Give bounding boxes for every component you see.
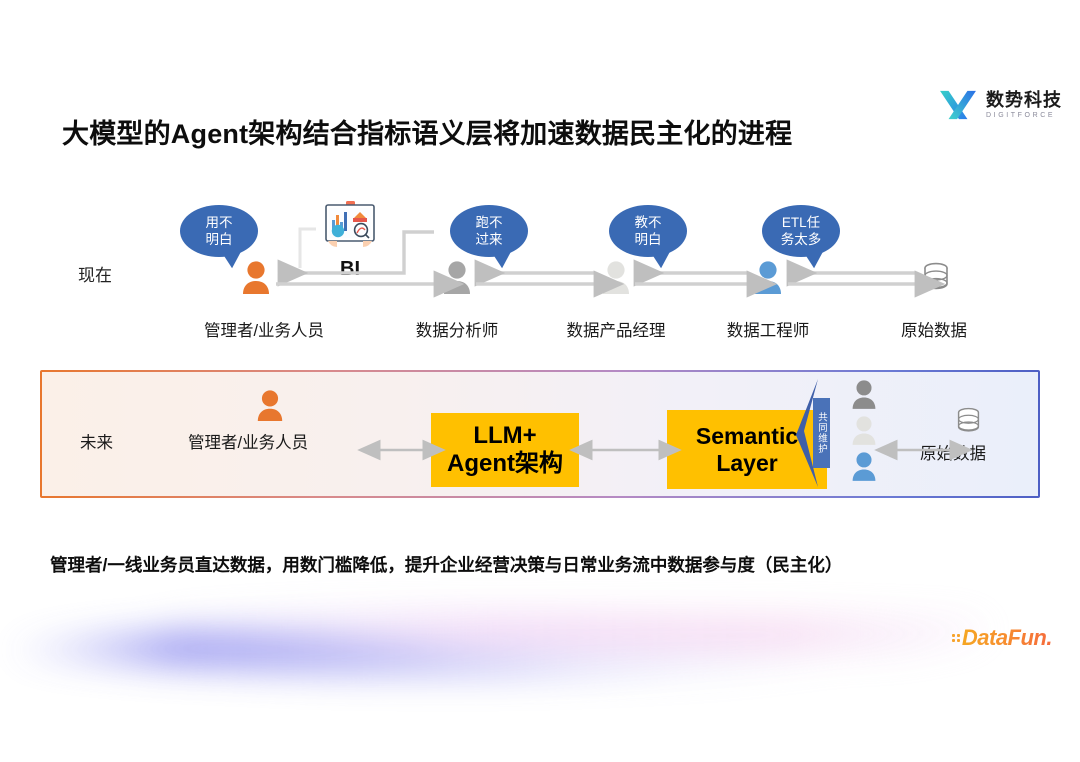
current-row-label: 现在 <box>78 261 112 286</box>
bubble-product-manager-line1: 教不 <box>635 214 662 231</box>
brand-name-en: DIGITFORCE <box>986 112 1062 119</box>
bubble-product-manager-line2: 明白 <box>635 231 662 248</box>
node-label-product-manager: 数据产品经理 <box>567 317 666 341</box>
bubble-manager: 用不 明白 <box>180 205 258 257</box>
datafun-watermark: DataFun. <box>952 625 1052 651</box>
datafun-text: DataFun. <box>962 625 1052 651</box>
person-icon-product-manager <box>600 260 632 294</box>
future-state-panel: 未来 管理者/业务人员 LLM+ Agent架构 Semantic Layer … <box>40 370 1040 498</box>
brand-logo: 数势科技 DIGITFORCE <box>937 88 1062 122</box>
bi-node: BI <box>316 200 384 281</box>
bottom-caption: 管理者/一线业务员直达数据，用数门槛降低，提升企业经营决策与日常业务流中数据参与… <box>50 552 842 577</box>
node-label-data-engineer: 数据工程师 <box>727 317 810 341</box>
bubble-analyst-line1: 跑不 <box>476 214 503 231</box>
person-icon-manager <box>240 260 272 294</box>
page-title: 大模型的Agent架构结合指标语义层将加速数据民主化的进程 <box>62 112 792 151</box>
future-row-arrows <box>42 372 1038 496</box>
digitforce-mark-icon <box>937 88 979 122</box>
node-label-manager: 管理者/业务人员 <box>204 317 324 341</box>
datafun-dots-icon <box>952 634 960 642</box>
bi-label: BI <box>316 258 384 281</box>
decorative-wave <box>0 596 1080 706</box>
bi-dashboard-icon <box>316 200 384 252</box>
bubble-data-engineer-line1: ETL任 <box>781 214 822 231</box>
person-icon-data-engineer <box>752 260 784 294</box>
shared-maintenance-tag: 共同维护 <box>813 398 830 468</box>
node-label-analyst: 数据分析师 <box>416 317 499 341</box>
bubble-manager-line2: 明白 <box>206 231 233 248</box>
brand-name-cn: 数势科技 <box>986 91 1062 109</box>
bubble-data-engineer: ETL任 务太多 <box>762 205 840 257</box>
bubble-manager-line1: 用不 <box>206 214 233 231</box>
node-label-raw-data: 原始数据 <box>901 317 967 341</box>
bubble-product-manager: 教不 明白 <box>609 205 687 257</box>
person-icon-analyst <box>441 260 473 294</box>
bubble-analyst: 跑不 过来 <box>450 205 528 257</box>
bubble-analyst-line2: 过来 <box>476 231 503 248</box>
bubble-data-engineer-line2: 务太多 <box>781 231 822 248</box>
database-icon-raw-data <box>921 262 951 294</box>
